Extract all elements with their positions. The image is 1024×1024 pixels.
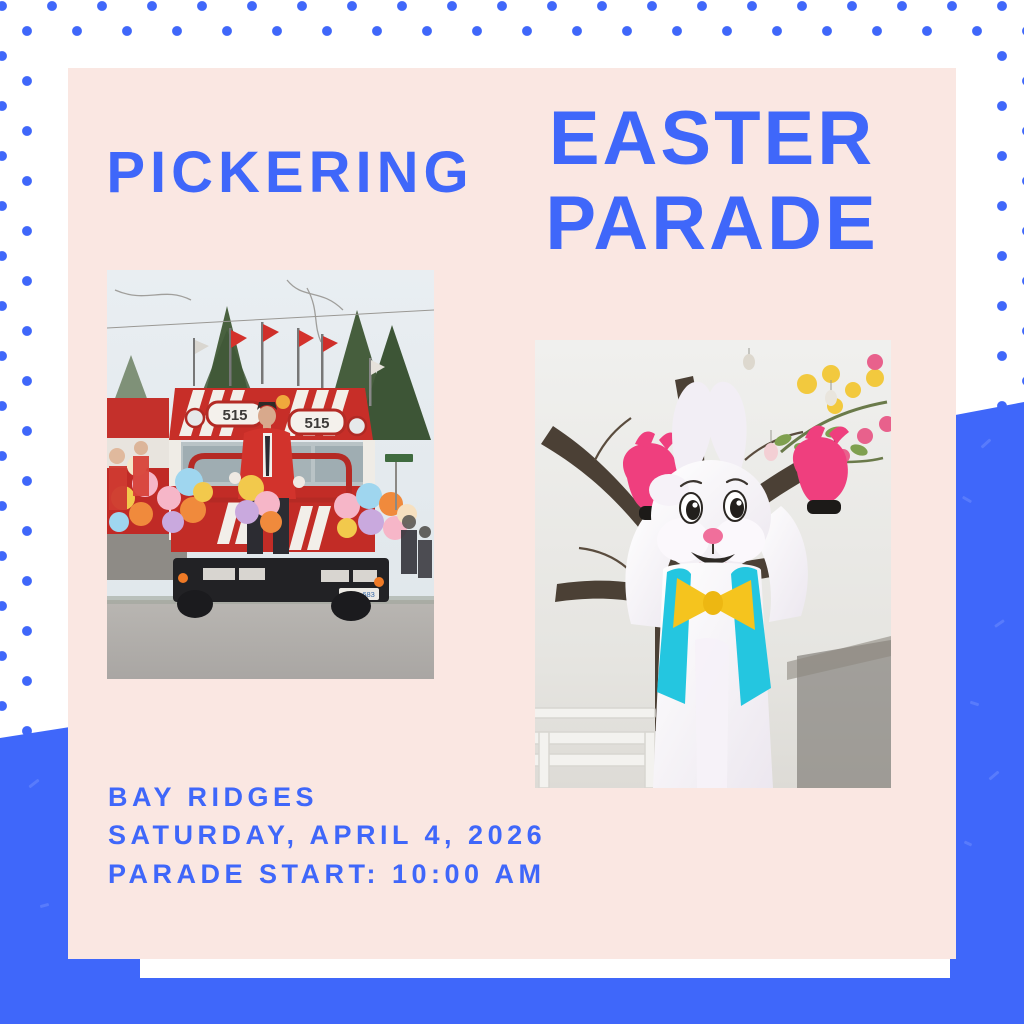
page-title-city: PICKERING bbox=[80, 144, 500, 202]
easter-parade-poster: PICKERING EASTER PARADE bbox=[0, 0, 1024, 1024]
page-title-event-line2: PARADE bbox=[478, 181, 946, 266]
event-location: BAY RIDGES bbox=[108, 778, 546, 816]
blue-bottom-band bbox=[0, 978, 1024, 1024]
page-title-event-line1: EASTER bbox=[478, 96, 946, 181]
event-start-time: PARADE START: 10:00 AM bbox=[108, 855, 546, 893]
parade-float-illustration: 515 515 bbox=[107, 270, 434, 679]
poster-card: PICKERING EASTER PARADE bbox=[68, 68, 956, 959]
parade-float-photo: 515 515 bbox=[107, 270, 434, 679]
easter-bunny-photo bbox=[535, 340, 891, 788]
easter-bunny-illustration bbox=[535, 340, 891, 788]
event-details: BAY RIDGES SATURDAY, APRIL 4, 2026 PARAD… bbox=[108, 778, 546, 893]
event-date: SATURDAY, APRIL 4, 2026 bbox=[108, 816, 546, 854]
blue-corner-shape-right bbox=[950, 402, 1024, 1024]
svg-text:515: 515 bbox=[304, 415, 329, 432]
svg-text:515: 515 bbox=[222, 407, 247, 424]
headline-block: PICKERING EASTER PARADE bbox=[68, 68, 956, 278]
page-title-event: EASTER PARADE bbox=[478, 96, 946, 266]
